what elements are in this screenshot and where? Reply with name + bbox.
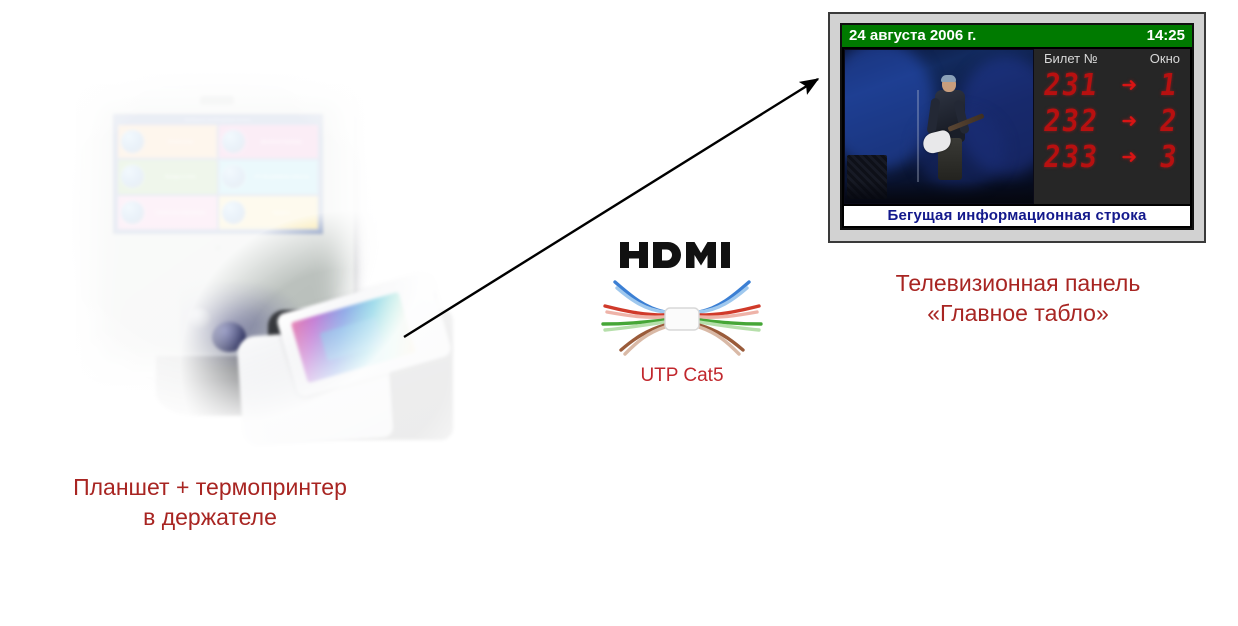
tv-date: 24 августа 2006 г. (849, 27, 976, 44)
left-caption-line2: в держателе (10, 502, 410, 532)
ticket-number: 233 (1042, 142, 1101, 172)
kiosk-tile-3[interactable]: Вклады и счета (118, 160, 217, 193)
left-caption-line1: Планшет + термопринтер (10, 472, 410, 502)
utp-cable-icon (595, 272, 769, 358)
window-number: 1 (1158, 70, 1181, 100)
tv-content-area: Билет № Окно 231 ➜ 1 232 ➜ 2 233 ➜ 3 (842, 47, 1192, 204)
kiosk-tile-1-label: Оплата услуг (144, 139, 217, 145)
tv-video-feed (844, 49, 1034, 204)
tablet-screen[interactable] (291, 292, 416, 383)
stage-floor (845, 181, 1033, 203)
desk-object-small (188, 308, 210, 328)
kiosk-tile-4-label: VIP обслуживание клиентов (245, 174, 318, 180)
tv-screen: 24 августа 2006 г. 14:25 (840, 23, 1194, 230)
card-icon (222, 201, 245, 224)
kiosk-screen-title: Выберите необходимую услугу (115, 117, 321, 122)
guitarist-figure (929, 76, 971, 180)
clock-icon (121, 130, 144, 153)
kiosk-tile-5-label: Справочная информация (144, 210, 217, 216)
utp-cat5-label: UTP Cat5 (592, 365, 772, 387)
info-ticker: Бегущая информационная строка (844, 206, 1190, 226)
tv-datebar: 24 августа 2006 г. 14:25 (842, 25, 1192, 47)
tablet-printer-caption: Планшет + термопринтер в держателе (10, 472, 410, 532)
kiosk-tile-6[interactable]: Кредиты (219, 196, 318, 229)
right-arrow-icon: ➜ (1121, 148, 1137, 167)
ticket-number: 231 (1042, 70, 1101, 100)
hdmi-connection-graphic: UTP Cat5 (592, 238, 772, 387)
right-arrow-icon: ➜ (1121, 76, 1137, 95)
tv-time: 14:25 (1147, 27, 1185, 44)
vip-icon (222, 165, 245, 188)
ticket-row: 231 ➜ 1 (1042, 67, 1184, 103)
kiosk-top-notch (200, 96, 234, 105)
board-header-row: Билет № Окно (1042, 51, 1184, 67)
kiosk-tile-1[interactable]: Оплата услуг (118, 125, 217, 158)
ticket-number: 232 (1042, 106, 1101, 136)
board-header-ticket: Билет № (1044, 51, 1098, 66)
money-icon (222, 130, 245, 153)
ticket-row: 232 ➜ 2 (1042, 103, 1184, 139)
ticket-row: 233 ➜ 3 (1042, 139, 1184, 175)
right-arrow-icon: ➜ (1121, 112, 1137, 131)
hdmi-logo-icon (619, 238, 745, 272)
performer-hair (941, 75, 956, 82)
ticket-board: Билет № Окно 231 ➜ 1 232 ➜ 2 233 ➜ 3 (1034, 49, 1190, 204)
tv-caption-line1: Телевизионная панель (838, 268, 1198, 298)
tv-caption-line2: «Главное табло» (838, 298, 1198, 328)
kiosk-indicator-dot (216, 246, 220, 250)
question-icon (121, 201, 144, 224)
window-number: 3 (1158, 142, 1181, 172)
kiosk-tile-4[interactable]: VIP обслуживание клиентов (219, 160, 318, 193)
kiosk-tile-3-label: Вклады и счета (144, 174, 217, 180)
kiosk-tile-2-label: Денежные переводы (245, 139, 318, 145)
kiosk-tile-2[interactable]: Денежные переводы (219, 125, 318, 158)
kiosk-tile-grid: Оплата услуг Денежные переводы Вклады и … (118, 125, 318, 229)
window-number: 2 (1158, 106, 1181, 136)
kiosk-tile-6-label: Кредиты (245, 210, 318, 216)
kiosk-touchscreen[interactable]: Выберите необходимую услугу Оплата услуг… (113, 114, 323, 234)
board-header-window: Окно (1150, 51, 1180, 66)
refresh-icon (121, 165, 144, 188)
tv-panel: 24 августа 2006 г. 14:25 (828, 12, 1206, 243)
kiosk-and-tablet-photo: Выберите необходимую услугу Оплата услуг… (60, 70, 460, 460)
tv-panel-caption: Телевизионная панель «Главное табло» (838, 268, 1198, 328)
kiosk-tile-5[interactable]: Справочная информация (118, 196, 217, 229)
microphone-stand (917, 90, 919, 182)
